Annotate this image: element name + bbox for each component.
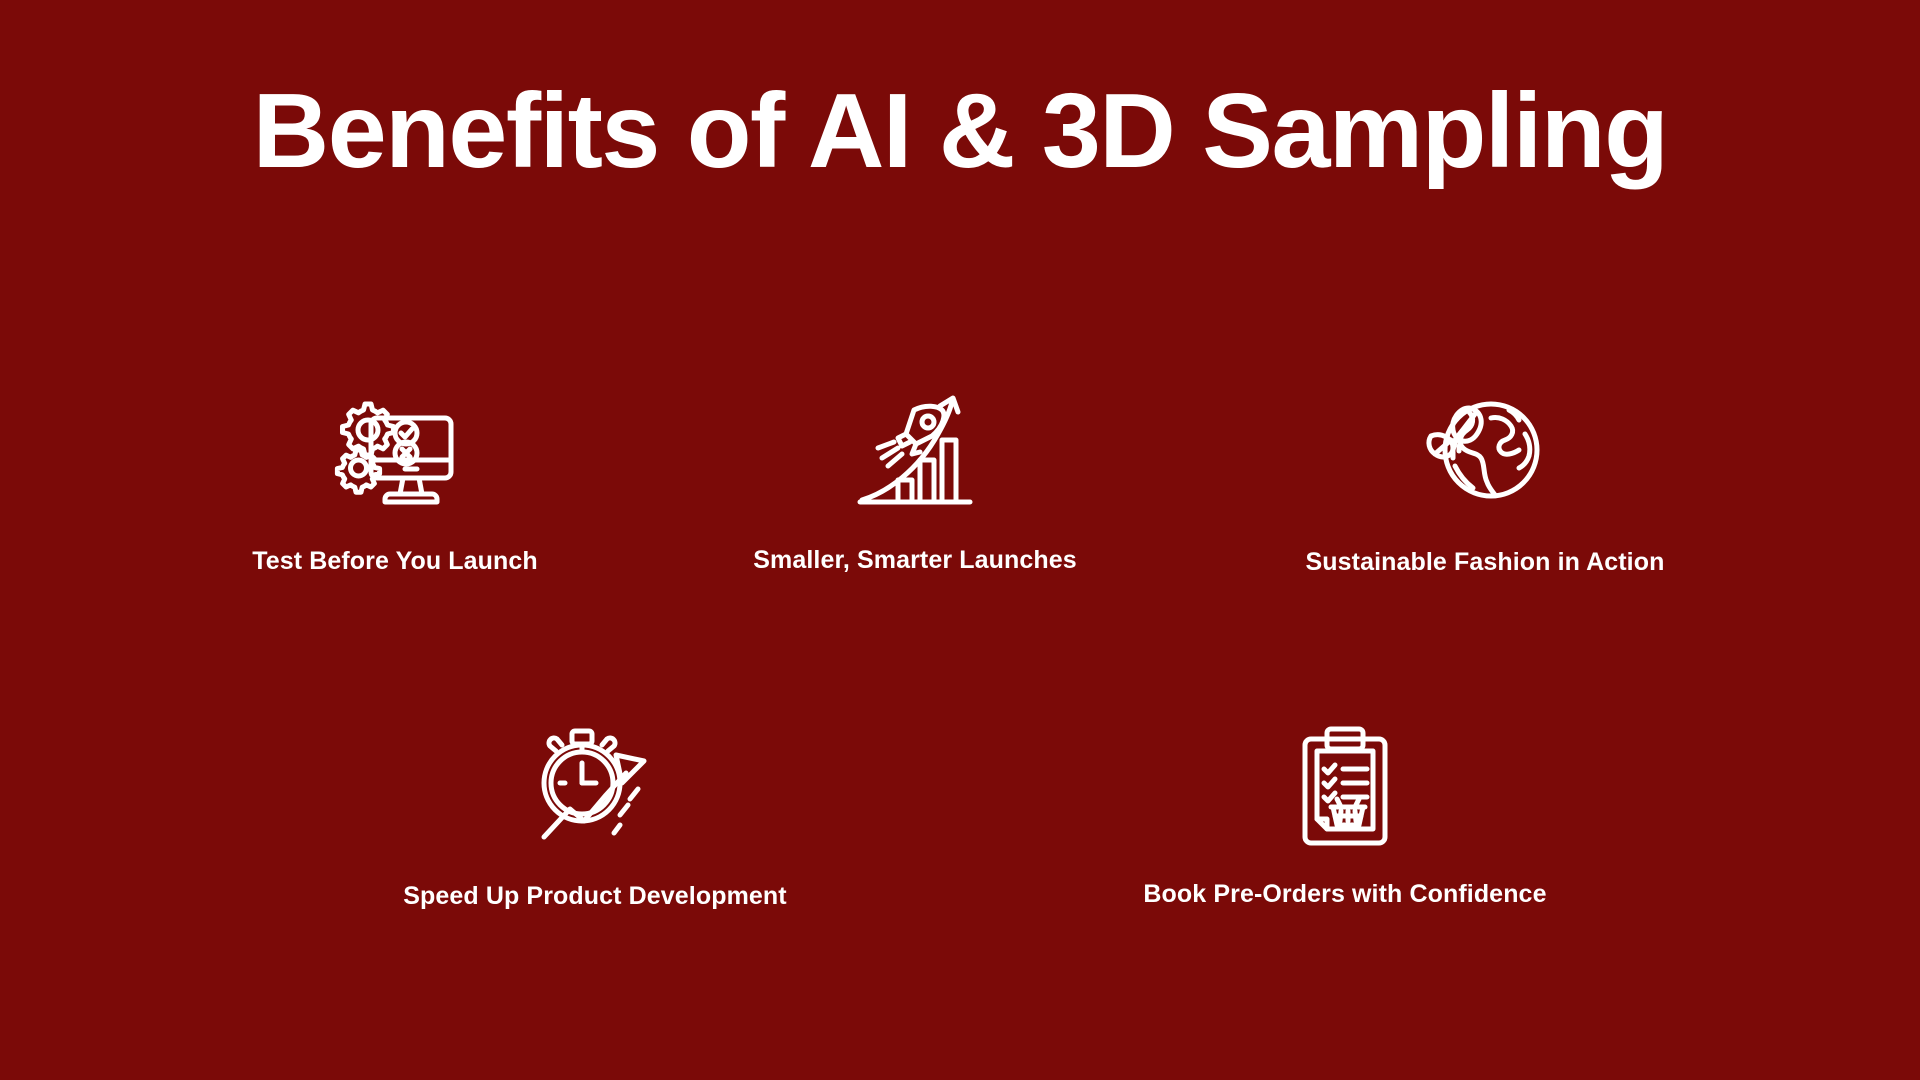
benefit-label: Test Before You Launch [165, 547, 625, 576]
rocket-growth-chart-icon [685, 388, 1145, 516]
monitor-gears-check-cross-icon [165, 388, 625, 516]
globe-leaf-icon [1255, 388, 1715, 516]
title-container: Benefits of AI & 3D Sampling [0, 72, 1920, 191]
page-title: Benefits of AI & 3D Sampling [0, 72, 1920, 191]
clipboard-checklist-basket-icon [1115, 722, 1575, 850]
benefit-label: Sustainable Fashion in Action [1255, 548, 1715, 577]
slide-canvas: Benefits of AI & 3D Sampling [0, 0, 1920, 1080]
benefit-label: Speed Up Product Development [365, 882, 825, 911]
benefit-item-speed-up-product-development[interactable]: Speed Up Product Development [365, 722, 825, 911]
benefit-item-smaller-smarter-launches[interactable]: Smaller, Smarter Launches [685, 388, 1145, 575]
benefit-item-sustainable-fashion-in-action[interactable]: Sustainable Fashion in Action [1255, 388, 1715, 577]
benefits-row-bottom: Speed Up Product Development [0, 722, 1920, 982]
benefit-label: Smaller, Smarter Launches [685, 546, 1145, 575]
benefits-row-top: Test Before You Launch [0, 388, 1920, 648]
benefit-label: Book Pre-Orders with Confidence [1115, 880, 1575, 909]
stopwatch-growth-arrow-icon [365, 722, 825, 850]
benefit-item-book-pre-orders-with-confidence[interactable]: Book Pre-Orders with Confidence [1115, 722, 1575, 909]
benefit-item-test-before-you-launch[interactable]: Test Before You Launch [165, 388, 625, 576]
